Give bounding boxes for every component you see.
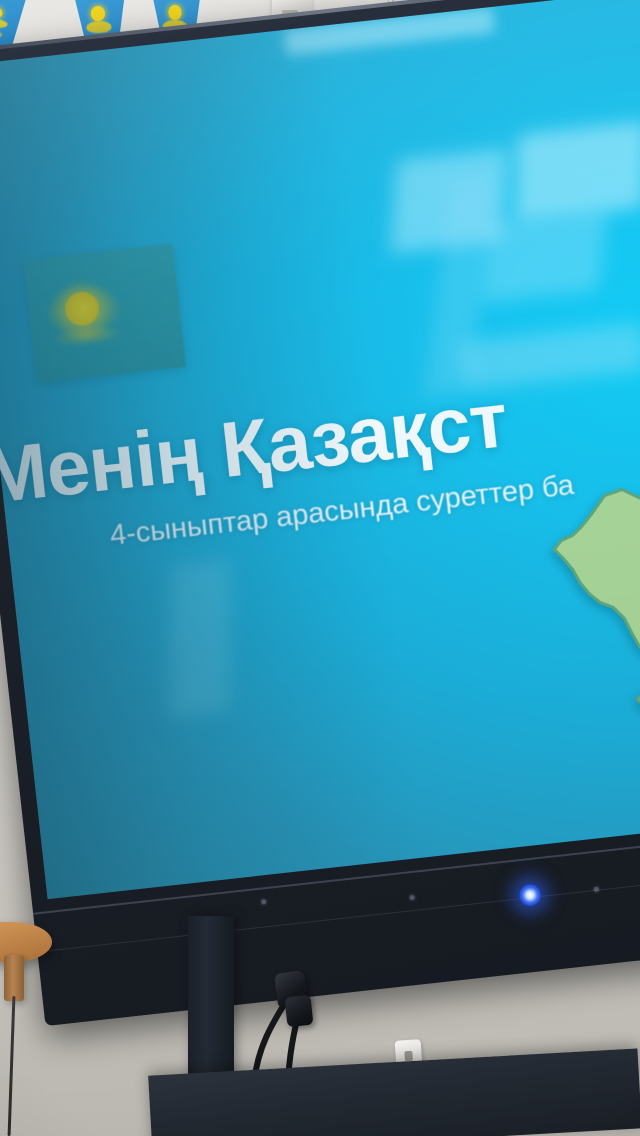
ir-sensor-dot	[594, 887, 600, 893]
screen-glare	[482, 211, 607, 303]
kazakhstan-map-graphic	[525, 452, 640, 846]
power-plug	[285, 995, 314, 1028]
ir-sensor-dot	[409, 895, 415, 901]
power-indicator-led[interactable]	[518, 883, 542, 907]
screen-glare	[169, 559, 230, 717]
screen-glare	[515, 121, 640, 222]
display-bezel: Менің Қазақст 4-сыныптар арасында суретт…	[0, 0, 640, 1026]
ir-sensor-dot	[261, 899, 267, 905]
display-screen[interactable]: Менің Қазақст 4-сыныптар арасында суретт…	[0, 0, 640, 899]
photo-canvas: Менің Қазақст 4-сыныптар арасында суретт…	[0, 0, 640, 1136]
screen-glare	[391, 148, 508, 254]
interactive-flat-panel-display[interactable]: Менің Қазақст 4-сыныптар арасында суретт…	[0, 0, 640, 1026]
screen-glare	[424, 177, 497, 396]
wooden-stool-leg	[4, 955, 24, 1001]
kazakhstan-flag-graphic	[23, 243, 186, 383]
